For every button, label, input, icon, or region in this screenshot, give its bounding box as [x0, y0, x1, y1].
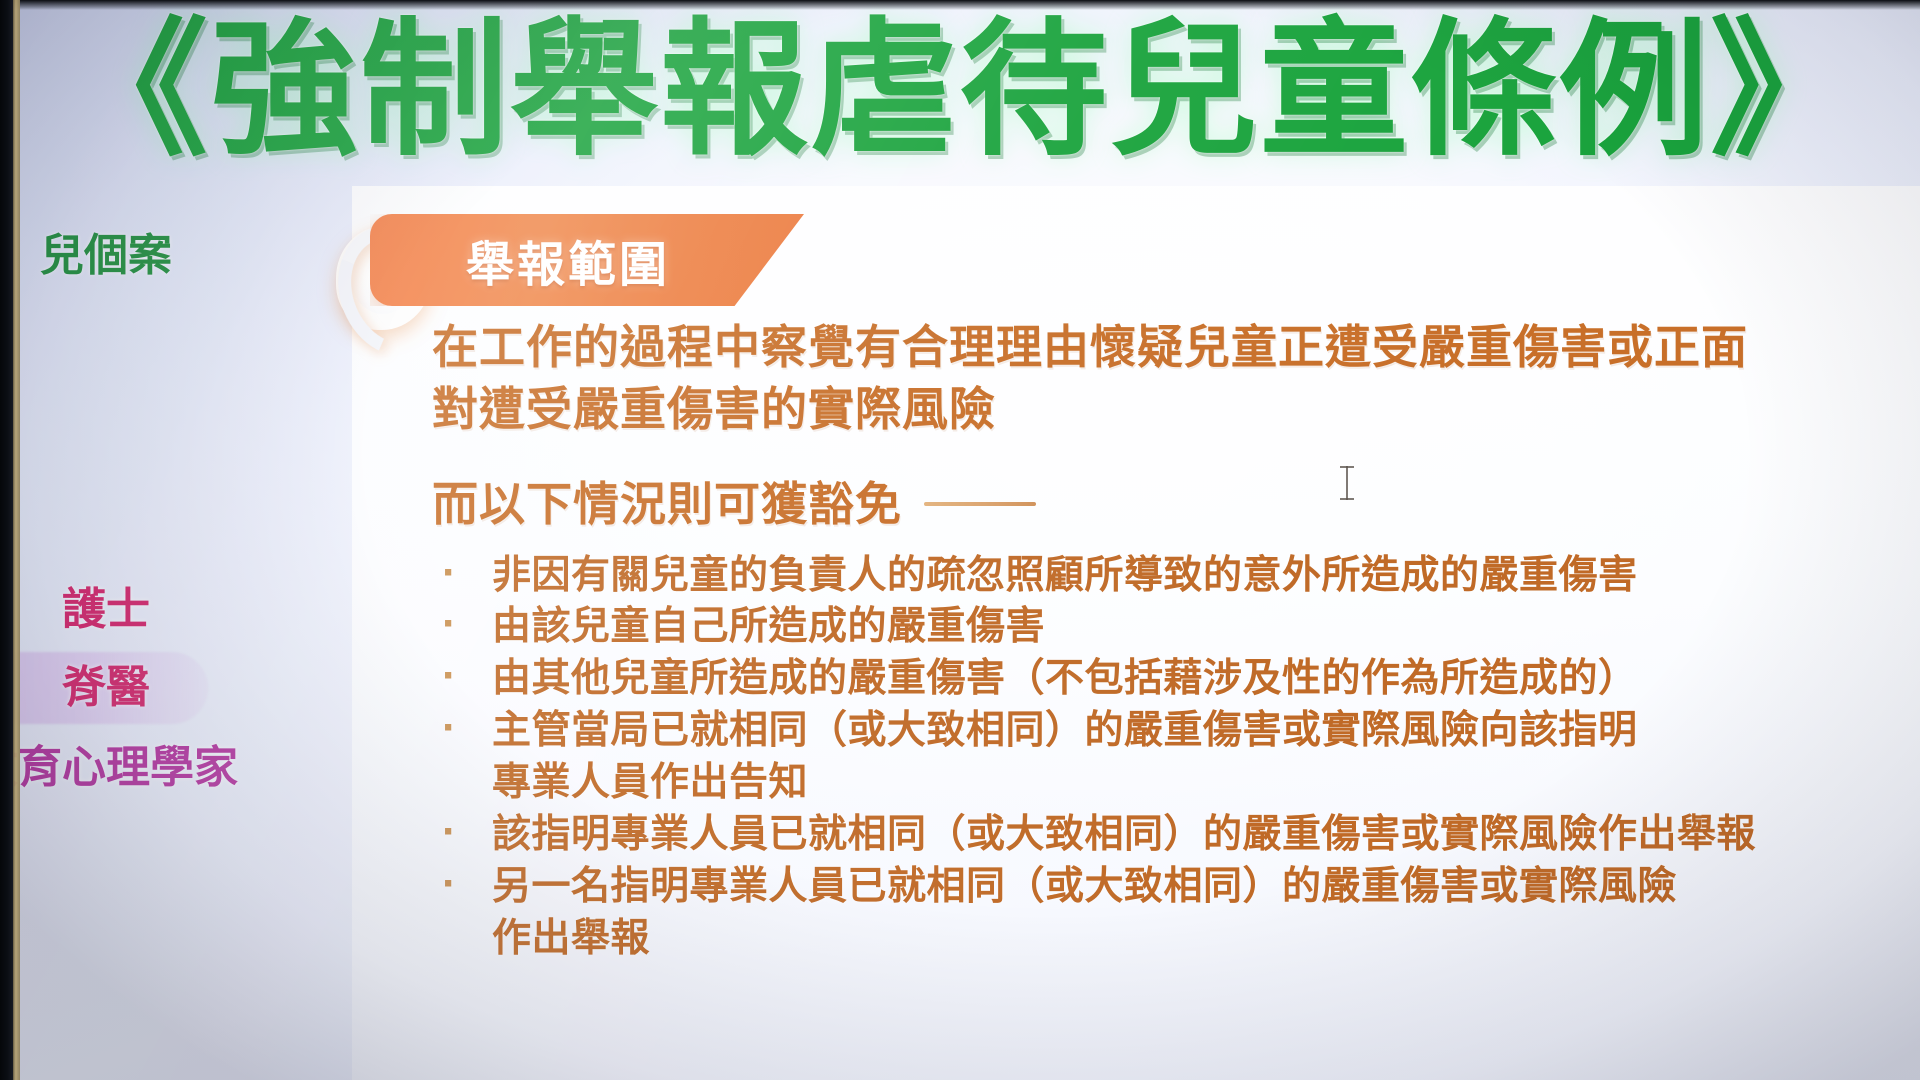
exemption-heading: 而以下情況則可獲豁免: [432, 468, 1852, 534]
sidebar-item-label: 護士: [62, 586, 150, 634]
list-item: 主管當局已就相同（或大致相同）的嚴重傷害或實際風險向該指明: [432, 705, 1852, 757]
screen-top-bezel: [0, 0, 1920, 10]
body-content: 在工作的過程中察覺有合理理由懷疑兒童正遭受嚴重傷害或正面 對遭受嚴重傷害的實際風…: [432, 318, 1852, 964]
lead-line-2: 對遭受嚴重傷害的實際風險: [432, 380, 1852, 440]
list-item: 由其他兒童所造成的嚴重傷害（不包括藉涉及性的作為所造成的）: [432, 653, 1852, 705]
ribbon-title-label: 舉報範圍: [466, 225, 670, 295]
sidebar-item-nurse[interactable]: 護士: [0, 586, 256, 634]
screen-left-bezel: [0, 0, 14, 1080]
sidebar-item-label: 脊醫: [62, 664, 150, 712]
exemption-label: 而以下情況則可獲豁免: [432, 468, 902, 534]
list-item: 另一名指明專業人員已就相同（或大致相同）的嚴重傷害或實際風險: [432, 861, 1852, 913]
sidebar-item-label: 兒個案: [40, 232, 172, 280]
list-item: 由該兒童自己所造成的嚴重傷害: [432, 601, 1852, 653]
page-title: 《強制舉報虐待兒童條例》: [0, 6, 1920, 176]
list-item: 該指明專業人員已就相同（或大致相同）的嚴重傷害或實際風險作出舉報: [432, 809, 1852, 861]
sidebar-item-label: 教育心理學家: [0, 744, 238, 792]
exemption-list: 非因有關兒童的負責人的疏忽照顧所導致的意外所造成的嚴重傷害由該兒童自己所造成的嚴…: [432, 550, 1852, 965]
screen-left-frame: [13, 0, 20, 1080]
list-item: 非因有關兒童的負責人的疏忽照顧所導致的意外所造成的嚴重傷害: [432, 550, 1852, 602]
ribbon-banner: 舉報範圍: [370, 214, 804, 306]
list-item: 作出舉報: [432, 913, 1852, 965]
profession-sidebar: 兒個案 護士 脊醫 教育心理學家: [0, 196, 352, 1080]
sidebar-item-educational-psychologist[interactable]: 教育心理學家: [0, 744, 256, 792]
sidebar-item-chiropractor[interactable]: 脊醫: [0, 664, 256, 712]
projected-slide: 《強制舉報虐待兒童條例》 兒個案 護士 脊醫 教育心理學家 舉報範圍 在工作的過…: [0, 0, 1920, 1080]
exemption-divider: [924, 502, 1036, 506]
sidebar-item-case[interactable]: 兒個案: [0, 232, 256, 280]
lead-line-1: 在工作的過程中察覺有合理理由懷疑兒童正遭受嚴重傷害或正面: [432, 318, 1852, 378]
list-item: 專業人員作出告知: [432, 757, 1852, 809]
